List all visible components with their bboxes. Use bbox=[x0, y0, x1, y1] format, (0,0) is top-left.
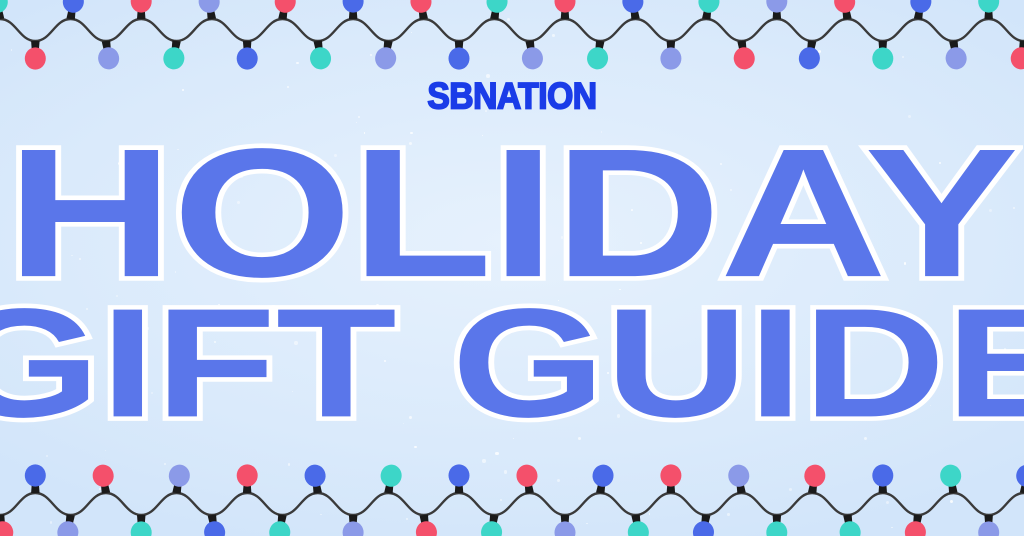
light-wire bbox=[0, 19, 1024, 41]
snow-speckle bbox=[504, 470, 507, 473]
light-bulb bbox=[903, 513, 928, 536]
snow-speckle bbox=[979, 530, 981, 532]
bulb-glass bbox=[978, 0, 999, 13]
string-lights-bottom bbox=[0, 470, 1024, 536]
snow-speckle bbox=[507, 18, 511, 22]
bulb-socket bbox=[277, 514, 287, 526]
light-bulb bbox=[727, 463, 752, 495]
light-bulb bbox=[833, 0, 858, 21]
bulb-socket bbox=[842, 7, 852, 19]
bulb-glass bbox=[0, 520, 15, 536]
bulb-glass bbox=[61, 0, 85, 14]
light-bulb bbox=[449, 41, 470, 70]
bulb-glass bbox=[727, 463, 751, 488]
light-bulb bbox=[625, 513, 650, 536]
bulb-socket bbox=[208, 514, 218, 526]
bulb-socket bbox=[349, 8, 358, 19]
bulb-socket bbox=[314, 40, 324, 52]
light-bulb bbox=[908, 0, 933, 21]
bulb-socket bbox=[984, 515, 993, 526]
bulb-glass bbox=[273, 0, 297, 14]
bulb-socket bbox=[912, 514, 922, 526]
bulb-socket bbox=[418, 7, 428, 19]
bulb-socket bbox=[631, 514, 641, 526]
bulb-socket bbox=[65, 514, 75, 526]
light-bulb bbox=[978, 0, 999, 19]
snow-speckle bbox=[500, 499, 502, 501]
light-bulb bbox=[660, 464, 681, 493]
light-bulb bbox=[131, 0, 152, 19]
bulb-glass bbox=[621, 0, 645, 14]
sbnation-logo: SBNATION bbox=[427, 77, 596, 114]
light-bulb bbox=[872, 464, 893, 493]
bulb-socket bbox=[667, 482, 676, 493]
bulb-socket bbox=[349, 515, 358, 526]
light-bulb bbox=[237, 41, 258, 70]
light-bulb bbox=[272, 0, 297, 21]
bulb-glass bbox=[56, 520, 80, 536]
bulb-socket bbox=[243, 482, 252, 493]
bulb-glass bbox=[833, 0, 857, 14]
bulb-socket bbox=[0, 514, 6, 526]
bulb-socket bbox=[278, 7, 288, 19]
bulb-socket bbox=[773, 515, 782, 526]
bulb-socket bbox=[490, 7, 500, 19]
headline-line-gift-guide: GIFT GUIDE bbox=[0, 298, 1024, 429]
bulb-socket bbox=[383, 40, 393, 52]
light-bulb bbox=[515, 463, 540, 495]
bulb-glass bbox=[939, 463, 963, 488]
light-bulb bbox=[555, 0, 576, 19]
bulb-glass bbox=[162, 46, 186, 71]
snow-speckle bbox=[406, 518, 407, 519]
snow-speckle bbox=[164, 463, 166, 465]
snow-speckle bbox=[818, 50, 821, 53]
snow-speckle bbox=[99, 488, 101, 490]
light-bulb bbox=[25, 41, 46, 70]
bulb-glass bbox=[131, 0, 152, 13]
bulb-socket bbox=[561, 515, 570, 526]
holiday-gift-guide-banner: SBNATION HOLIDAY GIFT GUIDE bbox=[0, 0, 1024, 536]
snow-speckle bbox=[950, 500, 954, 504]
light-bulb bbox=[25, 464, 46, 493]
bulb-glass bbox=[797, 46, 821, 71]
snow-speckle bbox=[320, 514, 322, 516]
light-bulb bbox=[303, 463, 328, 495]
light-bulb bbox=[1014, 463, 1024, 495]
bulb-glass bbox=[308, 46, 332, 71]
bulb-socket bbox=[561, 8, 570, 19]
light-bulb bbox=[660, 41, 681, 70]
light-bulb bbox=[449, 464, 470, 493]
bulb-glass bbox=[203, 520, 227, 536]
light-bulb bbox=[197, 0, 222, 21]
snow-speckle bbox=[495, 452, 499, 456]
bulb-socket bbox=[949, 40, 959, 52]
bulb-socket bbox=[31, 482, 39, 493]
bulb-socket bbox=[171, 40, 181, 52]
snow-speckle bbox=[296, 62, 298, 64]
bulb-glass bbox=[660, 47, 681, 69]
light-bulb bbox=[479, 513, 504, 536]
bulb-glass bbox=[303, 463, 327, 488]
bulb-socket bbox=[984, 8, 993, 19]
bulb-socket bbox=[843, 514, 853, 526]
bulb-glass bbox=[197, 0, 221, 14]
light-bulb bbox=[978, 515, 999, 536]
bulb-socket bbox=[806, 40, 816, 52]
bulb-glass bbox=[697, 0, 721, 14]
light-bulb bbox=[484, 0, 509, 21]
bulb-glass bbox=[414, 520, 438, 536]
bulb-socket bbox=[736, 481, 746, 493]
light-bulb bbox=[731, 39, 756, 71]
bulb-glass bbox=[766, 0, 787, 13]
bulb-socket bbox=[594, 40, 604, 52]
bulb-glass bbox=[515, 463, 539, 488]
bulb-socket bbox=[420, 514, 430, 526]
bulb-socket bbox=[100, 481, 110, 493]
bulb-socket bbox=[702, 7, 712, 19]
light-bulb bbox=[96, 39, 121, 71]
bulb-socket bbox=[879, 41, 888, 52]
bulb-socket bbox=[1020, 481, 1024, 493]
string-lights-top bbox=[0, 0, 1024, 68]
light-bulb bbox=[939, 463, 964, 495]
light-bulb bbox=[837, 513, 862, 536]
bulb-socket bbox=[488, 514, 498, 526]
bulb-socket bbox=[808, 481, 818, 493]
light-bulb bbox=[691, 513, 716, 536]
bulb-glass bbox=[803, 463, 827, 488]
light-bulb bbox=[343, 515, 364, 536]
bulb-socket bbox=[596, 481, 606, 493]
light-bulb bbox=[378, 463, 403, 495]
bulb-glass bbox=[591, 463, 615, 488]
bulb-socket bbox=[0, 7, 4, 19]
bulb-glass bbox=[268, 520, 292, 536]
bulb-glass bbox=[167, 463, 191, 488]
snow-speckle bbox=[649, 513, 651, 515]
bulb-socket bbox=[455, 41, 464, 52]
bulb-socket bbox=[773, 8, 782, 19]
snow-speckle bbox=[902, 56, 904, 58]
light-bulb bbox=[307, 39, 332, 71]
string-lights-bottom-graphic bbox=[0, 470, 1024, 536]
bulb-glass bbox=[626, 520, 650, 536]
light-bulb bbox=[590, 463, 615, 495]
light-bulb bbox=[621, 0, 646, 21]
light-bulb bbox=[413, 513, 438, 536]
light-bulb bbox=[0, 513, 15, 536]
bulb-glass bbox=[25, 464, 46, 486]
snow-speckle bbox=[46, 455, 48, 457]
light-wire bbox=[0, 493, 1024, 515]
snow-speckle bbox=[891, 527, 892, 528]
bulb-socket bbox=[455, 482, 464, 493]
bulb-glass bbox=[485, 0, 509, 14]
light-bulb bbox=[374, 39, 399, 71]
snow-speckle bbox=[370, 54, 372, 56]
light-bulb bbox=[585, 39, 610, 71]
snow-speckle bbox=[552, 34, 555, 37]
bulb-glass bbox=[343, 521, 364, 536]
bulb-socket bbox=[525, 40, 535, 52]
bulb-socket bbox=[630, 7, 640, 19]
light-bulb bbox=[1009, 39, 1024, 71]
bulb-glass bbox=[97, 46, 121, 71]
bulb-socket bbox=[524, 481, 534, 493]
bulb-socket bbox=[137, 8, 146, 19]
bulb-glass bbox=[237, 47, 258, 69]
bulb-socket bbox=[31, 41, 39, 52]
bulb-socket bbox=[667, 41, 676, 52]
light-bulb bbox=[343, 0, 364, 19]
light-bulb bbox=[237, 464, 258, 493]
bulb-glass bbox=[732, 46, 756, 71]
bulb-glass bbox=[691, 520, 715, 536]
snow-speckle bbox=[411, 32, 412, 33]
light-bulb bbox=[131, 515, 152, 536]
bulb-glass bbox=[1015, 463, 1024, 488]
bulb-socket bbox=[737, 40, 747, 52]
bulb-glass bbox=[91, 463, 115, 488]
bulb-socket bbox=[172, 481, 182, 493]
bulb-glass bbox=[343, 0, 364, 13]
bulb-glass bbox=[237, 464, 258, 486]
bulb-socket bbox=[384, 481, 394, 493]
bulb-socket bbox=[312, 481, 322, 493]
bulb-socket bbox=[1018, 40, 1024, 52]
light-bulb bbox=[166, 463, 191, 495]
bulb-glass bbox=[555, 521, 576, 536]
bulb-glass bbox=[479, 520, 503, 536]
bulb-glass bbox=[838, 520, 862, 536]
snow-speckle bbox=[11, 49, 13, 51]
light-bulb bbox=[766, 515, 787, 536]
snow-speckle bbox=[727, 513, 730, 516]
bulb-socket bbox=[102, 40, 112, 52]
light-bulb bbox=[0, 0, 10, 21]
bulb-glass bbox=[520, 46, 544, 71]
headline-block: HOLIDAY GIFT GUIDE bbox=[0, 136, 1024, 426]
snow-speckle bbox=[586, 523, 587, 524]
bulb-glass bbox=[872, 464, 893, 486]
string-lights-top-graphic bbox=[0, 0, 1024, 68]
bulb-glass bbox=[909, 0, 933, 14]
light-bulb bbox=[409, 0, 434, 21]
bulb-glass bbox=[903, 520, 927, 536]
snow-speckle bbox=[557, 479, 560, 482]
snow-speckle bbox=[886, 501, 889, 504]
light-bulb bbox=[797, 39, 822, 71]
bulb-socket bbox=[66, 7, 76, 19]
snow-speckle bbox=[482, 459, 485, 462]
snow-speckle bbox=[105, 450, 106, 451]
bulb-glass bbox=[660, 464, 681, 486]
light-bulb bbox=[555, 515, 576, 536]
bulb-glass bbox=[766, 521, 787, 536]
light-bulb bbox=[268, 513, 293, 536]
bulb-glass bbox=[585, 46, 609, 71]
bulb-glass bbox=[944, 46, 968, 71]
light-bulb bbox=[519, 39, 544, 71]
bulb-socket bbox=[947, 481, 957, 493]
bulb-glass bbox=[872, 47, 893, 69]
bulb-glass bbox=[25, 47, 46, 69]
bulb-glass bbox=[374, 46, 398, 71]
light-bulb bbox=[60, 0, 85, 21]
light-bulb bbox=[943, 39, 968, 71]
bulb-glass bbox=[1009, 46, 1024, 71]
bulb-socket bbox=[914, 7, 924, 19]
snow-speckle bbox=[50, 521, 53, 524]
snow-speckle bbox=[789, 488, 792, 491]
bulb-glass bbox=[555, 0, 576, 13]
light-bulb bbox=[696, 0, 721, 21]
snow-speckle bbox=[239, 63, 240, 64]
light-bulb bbox=[802, 463, 827, 495]
headline-line-holiday: HOLIDAY bbox=[0, 136, 1024, 291]
bulb-glass bbox=[379, 463, 403, 488]
light-bulb bbox=[202, 513, 227, 536]
snow-speckle bbox=[288, 463, 291, 466]
bulb-glass bbox=[0, 0, 9, 14]
light-bulb bbox=[766, 0, 787, 19]
bulb-socket bbox=[206, 7, 216, 19]
bulb-socket bbox=[700, 514, 710, 526]
bulb-socket bbox=[243, 41, 252, 52]
light-bulb bbox=[872, 41, 893, 70]
bulb-glass bbox=[131, 521, 152, 536]
bulb-glass bbox=[409, 0, 433, 14]
light-bulb bbox=[91, 463, 116, 495]
bulb-glass bbox=[449, 464, 470, 486]
bulb-socket bbox=[137, 515, 146, 526]
bulb-glass bbox=[449, 47, 470, 69]
bulb-glass bbox=[978, 521, 999, 536]
bulb-socket bbox=[879, 482, 888, 493]
light-bulb bbox=[162, 39, 187, 71]
light-bulb bbox=[56, 513, 81, 536]
brand-logo-container: SBNATION bbox=[0, 79, 1024, 112]
